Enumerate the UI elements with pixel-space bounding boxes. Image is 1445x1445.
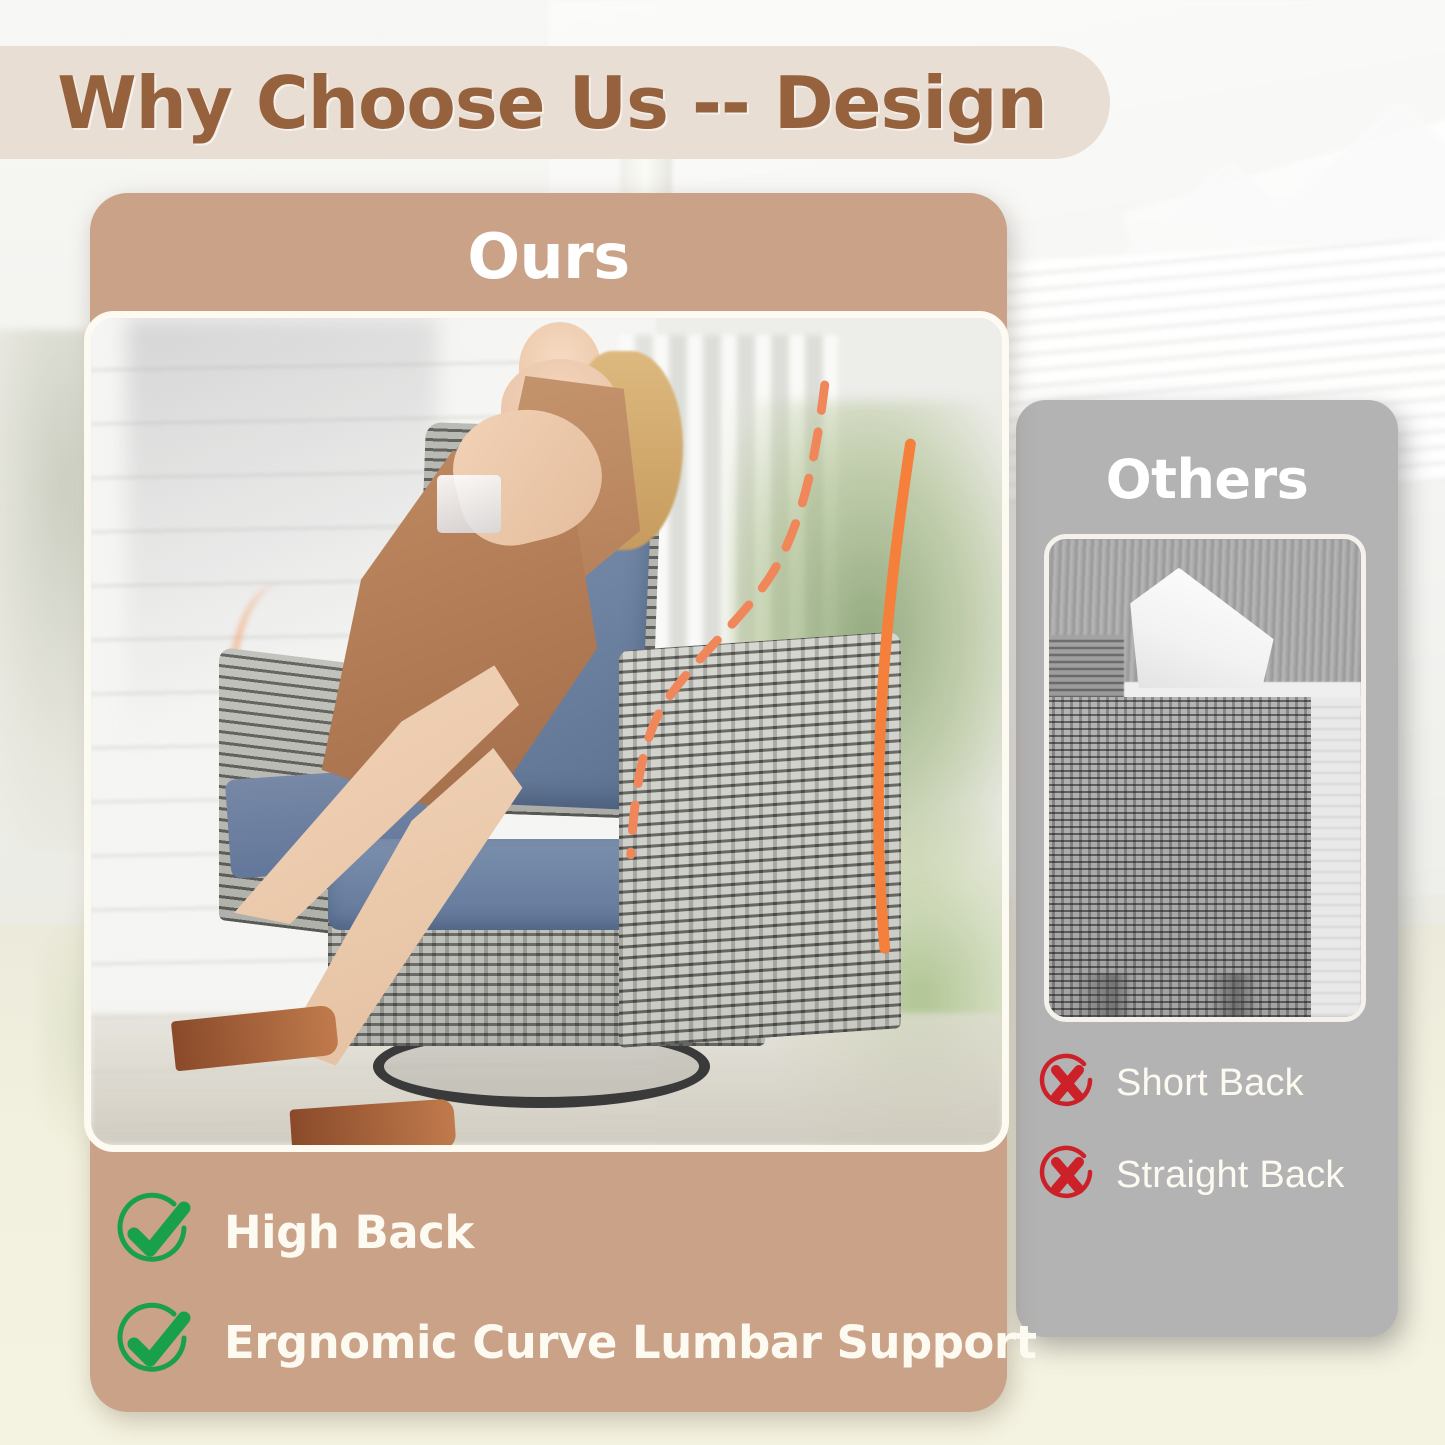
others-bullet-label: Short Back [1116,1062,1304,1105]
ours-comparison-panel: Ours [90,193,1007,1412]
x-circle-icon [1034,1142,1100,1208]
others-photo-sofa-legs [1074,974,1299,1017]
model-cup [437,475,501,533]
page-title: Why Choose Us -- Design [43,61,1047,145]
ours-bullet-label: Ergnomic Curve Lumbar Support [224,1316,1037,1369]
infographic-canvas: Others Short Back [0,0,1445,1445]
ours-bullet-item: Ergnomic Curve Lumbar Support [110,1298,1000,1386]
ours-product-photo [84,311,1009,1152]
others-photo-sofa-body [1044,697,1311,1017]
x-circle-icon [1034,1050,1100,1116]
chair-right-arm [619,631,901,1048]
others-product-photo [1044,534,1366,1022]
check-circle-icon [110,1298,198,1386]
others-comparison-panel: Others Short Back [1016,400,1398,1337]
ours-panel-title: Ours [90,220,1007,293]
ours-bullet-list: High Back Ergnomic Curve Lumbar Support [110,1188,1000,1408]
ours-bullet-item: High Back [110,1188,1000,1276]
others-bullet-item: Short Back [1034,1050,1394,1116]
others-bullet-label: Straight Back [1116,1154,1345,1197]
ours-bullet-label: High Back [224,1206,474,1259]
others-bullet-list: Short Back Straight Back [1034,1050,1394,1234]
check-circle-icon [110,1188,198,1276]
title-banner: Why Choose Us -- Design [0,46,1110,159]
others-panel-title: Others [1016,448,1398,511]
others-bullet-item: Straight Back [1034,1142,1394,1208]
